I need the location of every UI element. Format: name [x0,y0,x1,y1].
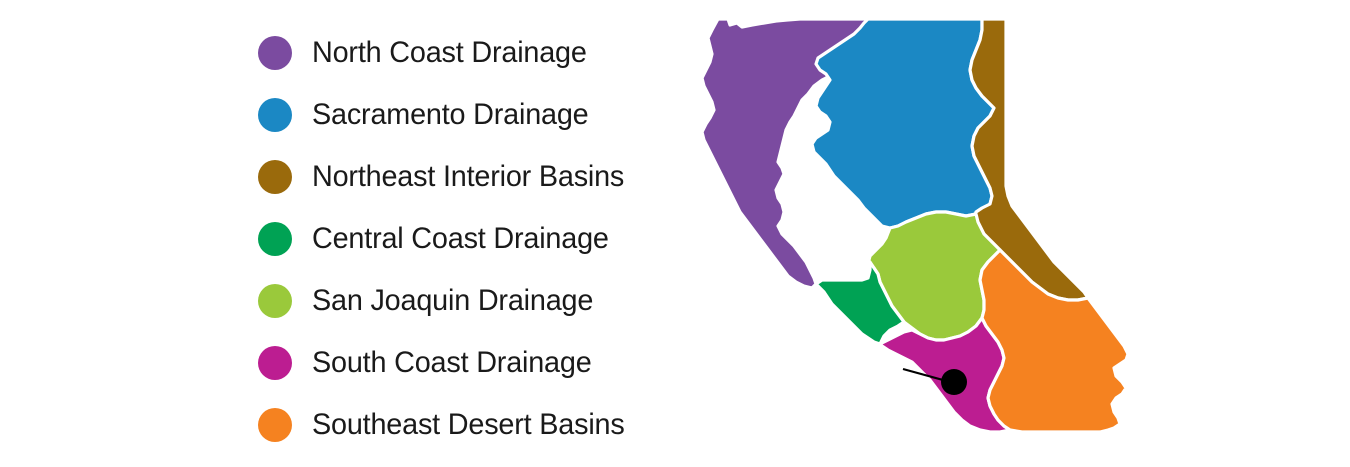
legend-item-southeast-desert-basins[interactable]: Southeast Desert Basins [258,394,678,456]
legend-item-label: Southeast Desert Basins [312,410,625,440]
map-figure: North Coast Drainage Sacramento Drainage… [0,0,1350,467]
circle-swatch-icon [258,284,292,318]
map-svg [690,0,1160,467]
legend-item-label: Sacramento Drainage [312,100,589,130]
legend-item-sacramento-drainage[interactable]: Sacramento Drainage [258,84,678,146]
circle-swatch-icon [258,160,292,194]
los-angeles-marker-icon[interactable] [941,369,967,395]
legend-item-label: South Coast Drainage [312,348,592,378]
map-legend: North Coast Drainage Sacramento Drainage… [258,22,678,456]
legend-item-label: San Joaquin Drainage [312,286,593,316]
circle-swatch-icon [258,222,292,256]
circle-swatch-icon [258,98,292,132]
legend-item-label: North Coast Drainage [312,38,587,68]
legend-item-northeast-interior-basins[interactable]: Northeast Interior Basins [258,146,678,208]
legend-item-central-coast-drainage[interactable]: Central Coast Drainage [258,208,678,270]
legend-item-south-coast-drainage[interactable]: South Coast Drainage [258,332,678,394]
circle-swatch-icon [258,408,292,442]
map-region-sacramento-drainage[interactable] [812,19,994,228]
legend-item-north-coast-drainage[interactable]: North Coast Drainage [258,22,678,84]
circle-swatch-icon [258,36,292,70]
california-drainage-map: Los Angeles [690,0,1160,467]
circle-swatch-icon [258,346,292,380]
legend-item-label: Northeast Interior Basins [312,162,624,192]
legend-item-label: Central Coast Drainage [312,224,609,254]
legend-item-san-joaquin-drainage[interactable]: San Joaquin Drainage [258,270,678,332]
